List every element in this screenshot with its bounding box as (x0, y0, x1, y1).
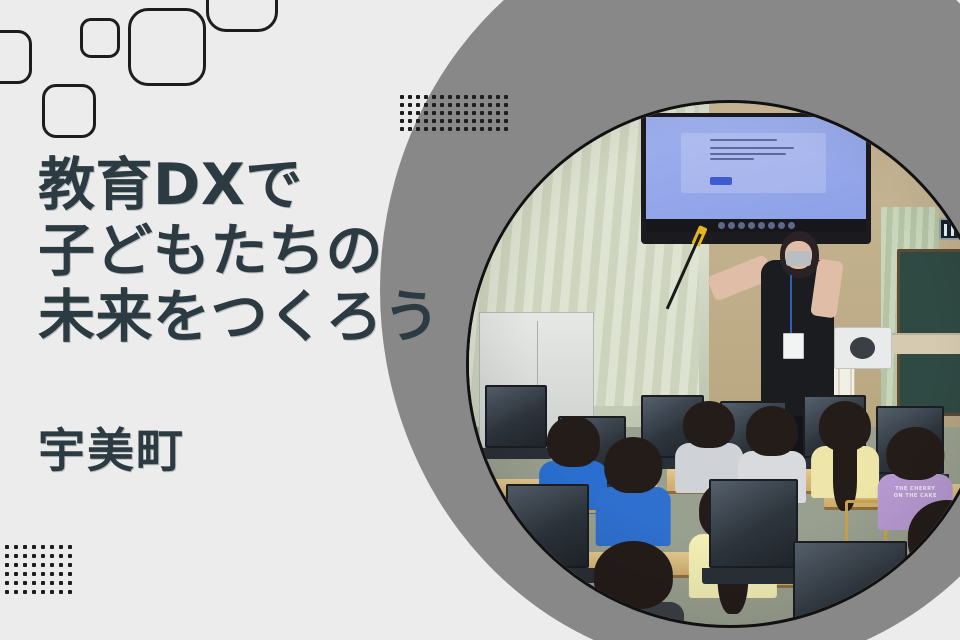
rounded-square-decoration-3 (80, 18, 120, 58)
dot (416, 103, 420, 107)
classroom-photo-circle: THE CHERRY ON THE CAKE (466, 100, 960, 628)
dot (23, 572, 27, 576)
dot (23, 545, 27, 549)
dot (5, 581, 9, 585)
dot (5, 590, 9, 594)
dot (424, 111, 428, 115)
document-text-line (710, 158, 753, 160)
dot (408, 127, 412, 131)
dot (400, 95, 404, 99)
dot (448, 127, 452, 131)
wall-display-monitor (641, 113, 871, 244)
headline-line-3: 未来をつくろう (38, 284, 478, 350)
poster-canvas: THE CHERRY ON THE CAKE 教育DXで 子どもたちの 未来をつ… (0, 0, 960, 640)
taskbar-app-icon (738, 222, 745, 229)
dot (472, 95, 476, 99)
dot (68, 581, 72, 585)
dot (408, 119, 412, 123)
document-text-line (710, 153, 785, 155)
dot (400, 119, 404, 123)
dot (440, 111, 444, 115)
dot (23, 563, 27, 567)
dot (50, 581, 54, 585)
cd-radio-player (834, 327, 891, 369)
display-taskbar (646, 219, 866, 232)
dot (23, 554, 27, 558)
dot (14, 563, 18, 567)
display-screen (646, 117, 866, 232)
student (594, 541, 672, 625)
dot (440, 127, 444, 131)
dot (440, 103, 444, 107)
rounded-square-decoration-4 (128, 8, 206, 86)
dot (23, 590, 27, 594)
dot-grid-bottom (0, 545, 77, 599)
dot (448, 111, 452, 115)
taskbar-app-icon (758, 222, 765, 229)
dot-grid-row (0, 563, 77, 572)
student-laptop (506, 484, 590, 568)
rounded-square-decoration-5 (206, 0, 278, 32)
document-submit-button (710, 177, 732, 185)
dot (416, 111, 420, 115)
dot (480, 95, 484, 99)
dot (59, 554, 63, 558)
dot (416, 127, 420, 131)
dot (50, 572, 54, 576)
headline-line-1: 教育DXで (38, 152, 478, 218)
dot (32, 554, 36, 558)
dot (32, 572, 36, 576)
student (907, 500, 960, 625)
dot (448, 103, 452, 107)
hoodie-print-text: THE CHERRY ON THE CAKE (891, 486, 940, 500)
dot-grid-row (0, 572, 77, 581)
student (819, 401, 871, 495)
document-text-line (710, 147, 794, 149)
municipality-name: 宇美町 (38, 424, 185, 480)
dot (41, 545, 45, 549)
dot (464, 111, 468, 115)
dot (408, 103, 412, 107)
dot (416, 95, 420, 99)
dot (50, 590, 54, 594)
dot (14, 545, 18, 549)
dot (432, 119, 436, 123)
taskbar-app-icon (718, 222, 725, 229)
dot (41, 563, 45, 567)
dot (432, 111, 436, 115)
taskbar-app-icon (788, 222, 795, 229)
dot-grid-row (400, 95, 512, 103)
dot (400, 103, 404, 107)
dot (5, 563, 9, 567)
dot (448, 119, 452, 123)
dot (59, 563, 63, 567)
dot (41, 590, 45, 594)
dot (14, 581, 18, 585)
taskbar-app-icon (728, 222, 735, 229)
dot (68, 545, 72, 549)
document-text-line (710, 139, 777, 141)
dot (416, 119, 420, 123)
classroom-scene: THE CHERRY ON THE CAKE (469, 103, 960, 625)
dot (424, 95, 428, 99)
dot (456, 119, 460, 123)
dot (408, 95, 412, 99)
dot (456, 95, 460, 99)
dot (488, 95, 492, 99)
dot (41, 581, 45, 585)
dot (464, 127, 468, 131)
dot (400, 127, 404, 131)
dot (408, 111, 412, 115)
teacher-id-badge (783, 333, 804, 359)
dot (464, 103, 468, 107)
dot (41, 554, 45, 558)
dot-grid-row (0, 545, 77, 554)
dot (68, 590, 72, 594)
dot (32, 581, 36, 585)
displayed-document (681, 133, 826, 193)
dot (464, 95, 468, 99)
teacher-lanyard (790, 275, 792, 338)
dot (504, 95, 508, 99)
dot (14, 590, 18, 594)
dot (5, 572, 9, 576)
dot (23, 581, 27, 585)
dot (448, 95, 452, 99)
headline-block: 教育DXで 子どもたちの 未来をつくろう (38, 152, 478, 350)
teacher-face-mask (786, 251, 811, 267)
taskbar-app-icon (748, 222, 755, 229)
dot (456, 111, 460, 115)
dot (59, 545, 63, 549)
dot (59, 590, 63, 594)
student (605, 437, 662, 541)
classroom-photo-image: THE CHERRY ON THE CAKE (469, 103, 960, 625)
wall-clock (939, 218, 960, 240)
foreground-laptop (793, 541, 908, 625)
taskbar-app-icon (778, 222, 785, 229)
dot (496, 95, 500, 99)
dot (32, 563, 36, 567)
taskbar-app-icon (768, 222, 775, 229)
student (683, 401, 735, 490)
dot (59, 572, 63, 576)
dot (68, 554, 72, 558)
dot (32, 545, 36, 549)
dot (432, 95, 436, 99)
dot (50, 563, 54, 567)
dot-grid-row (0, 554, 77, 563)
dot (41, 572, 45, 576)
dot (424, 103, 428, 107)
dot (68, 563, 72, 567)
dot (424, 119, 428, 123)
student-laptop (709, 479, 798, 568)
dot (432, 103, 436, 107)
dot (464, 119, 468, 123)
rounded-square-decoration-1 (0, 30, 32, 84)
dot-grid-row (0, 590, 77, 599)
dot (14, 572, 18, 576)
rounded-square-decoration-2 (42, 84, 96, 138)
student-laptop (485, 385, 548, 448)
dot-grid-row (0, 581, 77, 590)
dot (32, 590, 36, 594)
dot (440, 119, 444, 123)
dot (400, 111, 404, 115)
dot (14, 554, 18, 558)
dot (432, 127, 436, 131)
dot (440, 95, 444, 99)
dot (68, 572, 72, 576)
headline-line-2: 子どもたちの (38, 218, 478, 284)
dot (456, 127, 460, 131)
dot (5, 545, 9, 549)
dot (5, 554, 9, 558)
dot (424, 127, 428, 131)
dot (50, 545, 54, 549)
dot (59, 581, 63, 585)
dot (50, 554, 54, 558)
dot (456, 103, 460, 107)
